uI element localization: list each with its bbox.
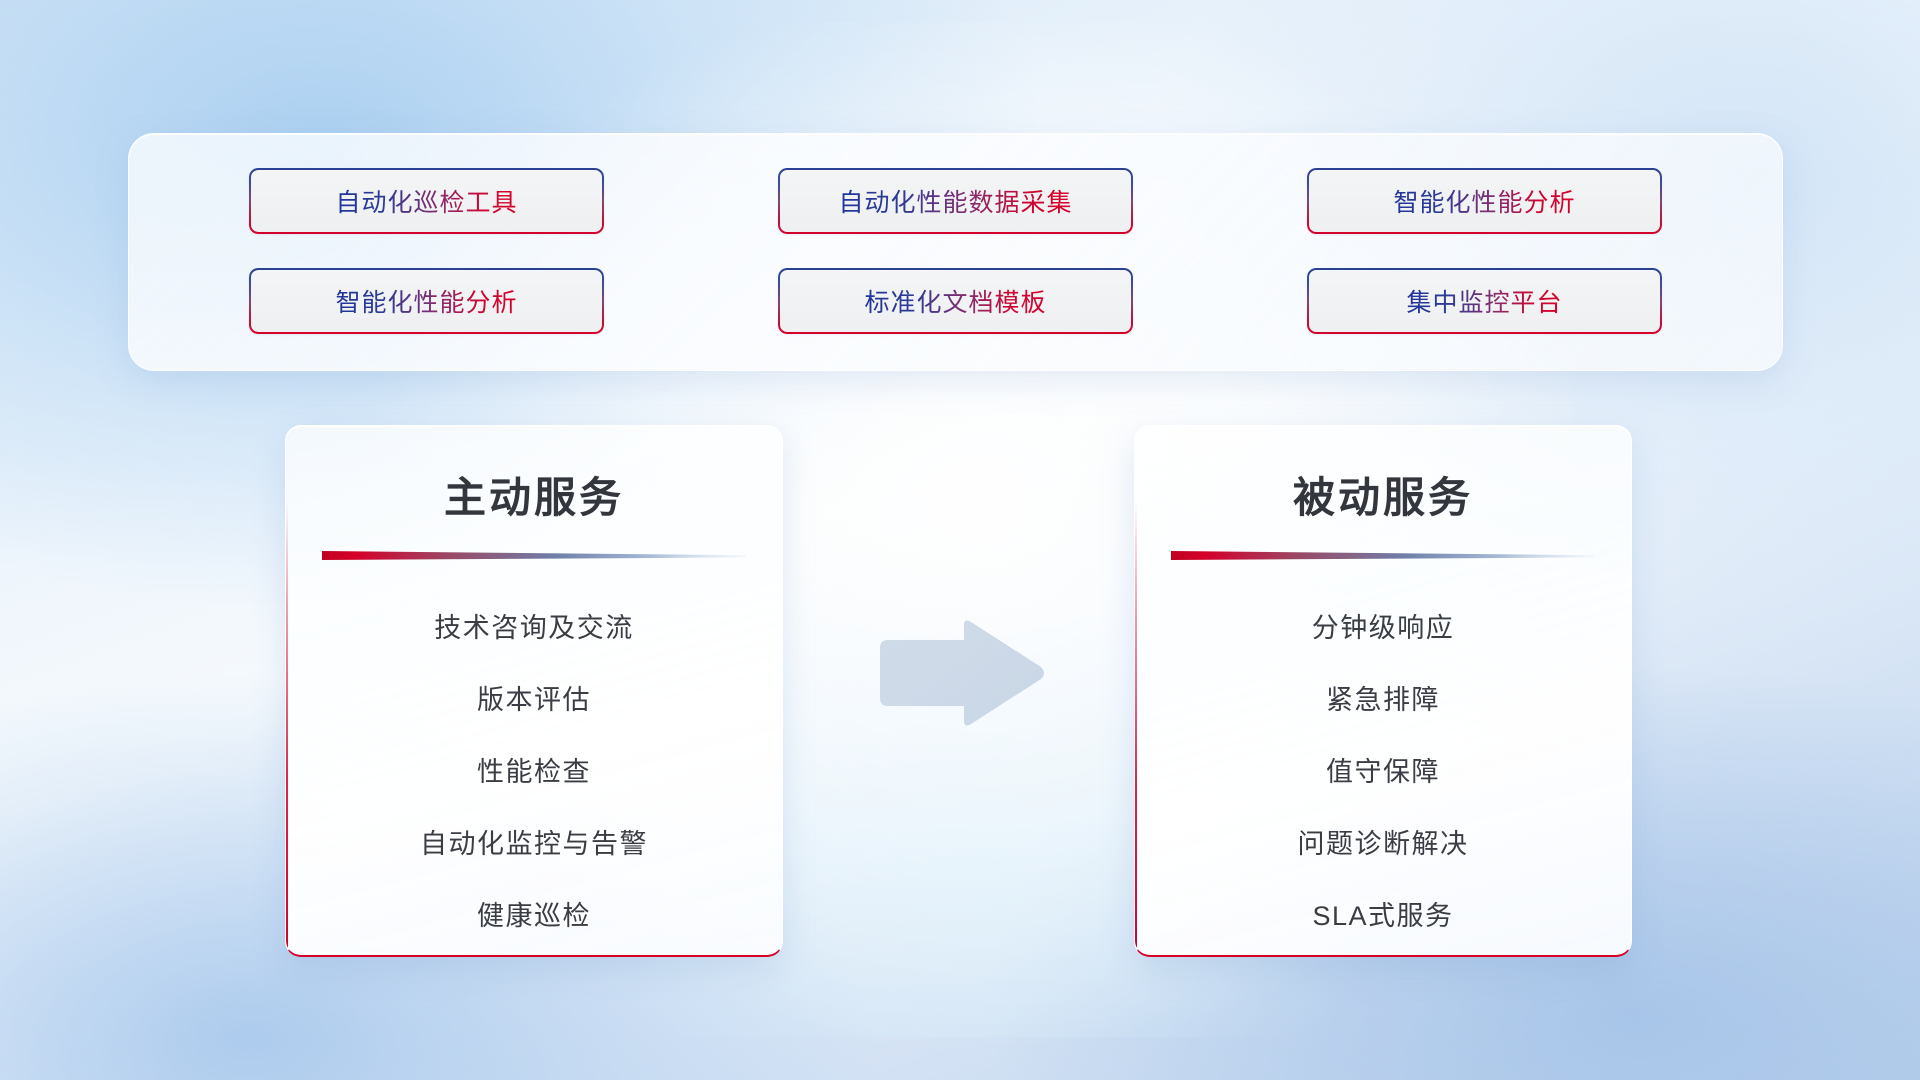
capability-chip-label: 自动化巡检工具	[335, 183, 517, 219]
capability-chip-label: 智能化性能分析	[1393, 183, 1575, 219]
capability-chip-1[interactable]: 自动化巡检工具	[249, 168, 604, 234]
service-list-item[interactable]: 紧急排障	[1326, 664, 1440, 736]
card-divider	[1171, 549, 1595, 562]
service-card-proactive: 主动服务 技术咨询及交流 版本评估 性能检查 自动化监控与告警 健康巡检	[285, 425, 783, 957]
service-list-item[interactable]: 问题诊断解决	[1298, 808, 1469, 880]
capability-chip-6[interactable]: 集中监控平台	[1307, 268, 1662, 334]
capability-chip-label: 标准化文档模板	[864, 283, 1046, 319]
service-item-list: 分钟级响应 紧急排障 值守保障 问题诊断解决 SLA式服务	[1135, 592, 1631, 952]
service-list-item[interactable]: 性能检查	[477, 736, 591, 808]
service-card-title: 被动服务	[1135, 464, 1631, 525]
capability-chip-2[interactable]: 自动化性能数据采集	[778, 168, 1133, 234]
right-arrow-icon	[872, 618, 1047, 728]
capability-chip-grid: 自动化巡检工具 自动化性能数据采集 智能化性能分析 智能化性能分析 标准化文档模…	[129, 134, 1782, 370]
capability-chip-label: 集中监控平台	[1406, 283, 1562, 319]
capability-chip-4[interactable]: 智能化性能分析	[249, 268, 604, 334]
service-item-list: 技术咨询及交流 版本评估 性能检查 自动化监控与告警 健康巡检	[286, 592, 782, 952]
capability-chip-label: 自动化性能数据采集	[838, 183, 1072, 219]
capability-chip-panel: 自动化巡检工具 自动化性能数据采集 智能化性能分析 智能化性能分析 标准化文档模…	[128, 133, 1783, 371]
service-list-item[interactable]: SLA式服务	[1312, 880, 1453, 952]
service-list-item[interactable]: 健康巡检	[477, 880, 591, 952]
service-list-item[interactable]: 分钟级响应	[1312, 592, 1455, 664]
service-list-item[interactable]: 值守保障	[1326, 736, 1440, 808]
service-list-item[interactable]: 技术咨询及交流	[434, 592, 634, 664]
capability-chip-5[interactable]: 标准化文档模板	[778, 268, 1133, 334]
service-card-title: 主动服务	[286, 464, 782, 525]
service-list-item[interactable]: 版本评估	[477, 664, 591, 736]
service-card-reactive: 被动服务 分钟级响应 紧急排障 值守保障 问题诊断解决 SLA式服务	[1134, 425, 1632, 957]
capability-chip-label: 智能化性能分析	[335, 283, 517, 319]
service-list-item[interactable]: 自动化监控与告警	[420, 808, 648, 880]
capability-chip-3[interactable]: 智能化性能分析	[1307, 168, 1662, 234]
card-divider	[322, 549, 746, 562]
